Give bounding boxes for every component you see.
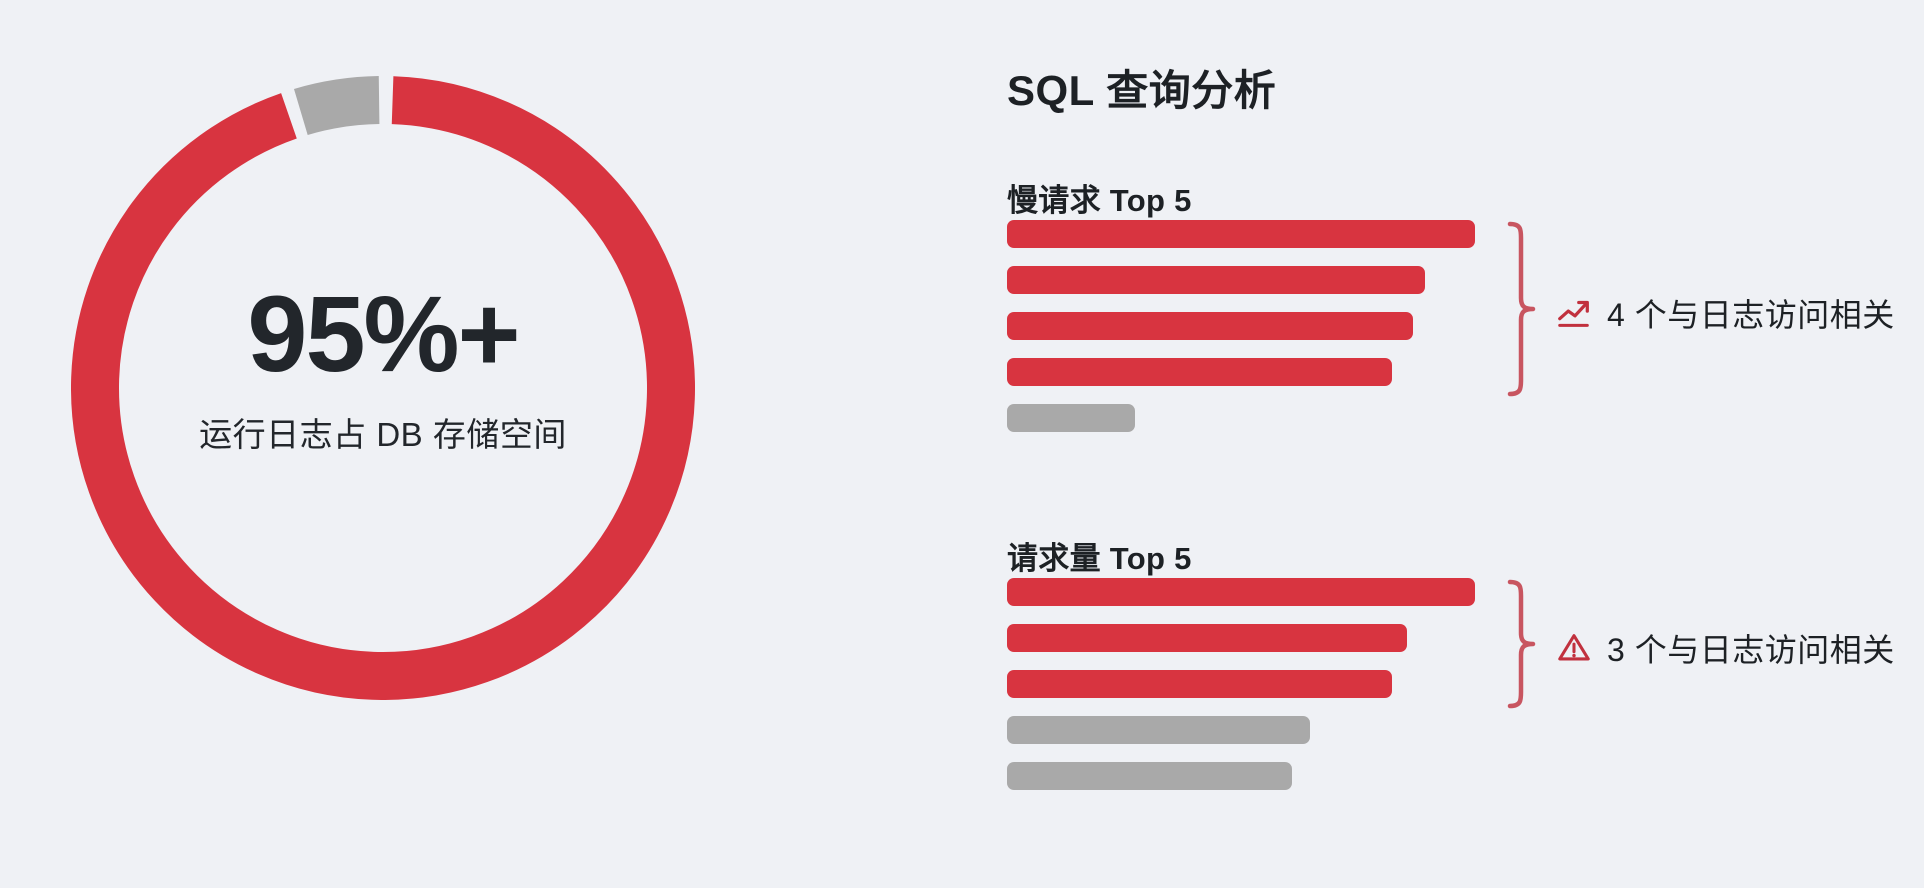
curly-brace-icon [1502, 578, 1542, 710]
bar-volume-1[interactable] [1007, 578, 1475, 606]
bar-volume-2[interactable] [1007, 624, 1407, 652]
section-heading-slow-requests: 慢请求 Top 5 [1007, 175, 1192, 220]
bar-volume-5[interactable] [1007, 762, 1292, 790]
slow-requests-annotation-text: 4 个与日志访问相关 [1607, 290, 1895, 336]
curly-brace-icon [1502, 220, 1542, 398]
panel-title: SQL 查询分析 [1007, 57, 1276, 118]
slow-requests-brace-group [1502, 220, 1542, 398]
warning-triangle-icon [1555, 629, 1593, 667]
trending-up-icon [1555, 294, 1593, 332]
bar-row [1007, 716, 1627, 762]
sql-analysis-infographic: 95%+ 运行日志占 DB 存储空间 SQL 查询分析 慢请求 Top 5 [0, 0, 1924, 888]
bar-slow-4[interactable] [1007, 358, 1392, 386]
bar-row [1007, 762, 1627, 808]
bar-slow-2[interactable] [1007, 266, 1425, 294]
bar-slow-1[interactable] [1007, 220, 1475, 248]
bar-volume-3[interactable] [1007, 670, 1392, 698]
section-heading-request-volume: 请求量 Top 5 [1007, 533, 1192, 578]
request-volume-annotation-text: 3 个与日志访问相关 [1607, 625, 1895, 671]
bar-volume-4[interactable] [1007, 716, 1310, 744]
bar-slow-5[interactable] [1007, 404, 1135, 432]
request-volume-annotation: 3 个与日志访问相关 [1555, 625, 1895, 671]
sql-query-analysis-panel: SQL 查询分析 慢请求 Top 5 [1007, 0, 1924, 888]
slow-requests-annotation: 4 个与日志访问相关 [1555, 290, 1895, 336]
storage-donut-panel: 95%+ 运行日志占 DB 存储空间 [0, 0, 790, 888]
donut-chart [71, 76, 695, 700]
bar-slow-3[interactable] [1007, 312, 1413, 340]
donut-segment-logs [85, 90, 681, 686]
bar-row [1007, 404, 1627, 450]
request-volume-brace-group [1502, 578, 1542, 710]
